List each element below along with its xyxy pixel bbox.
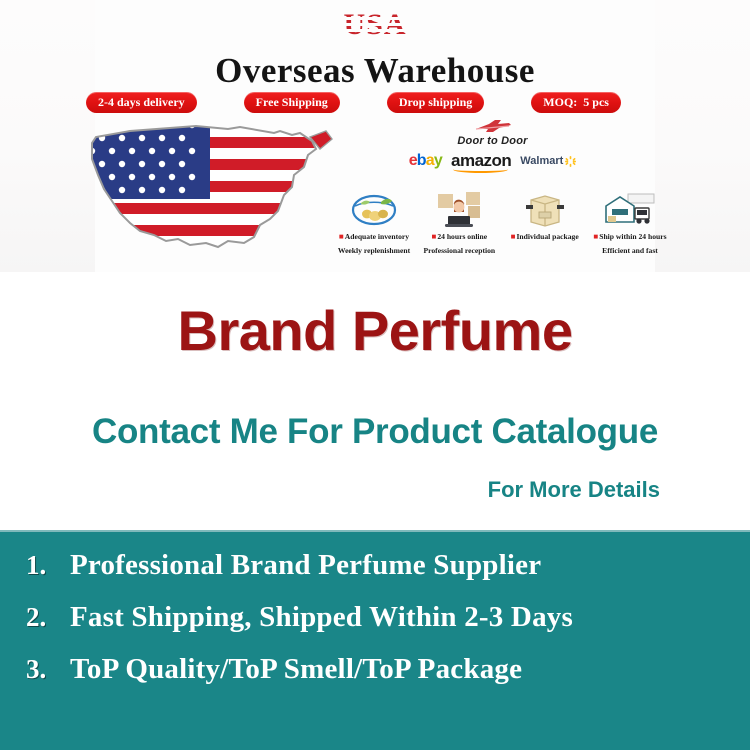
badge-drop-shipping-label: Drop shipping <box>399 95 472 109</box>
badge-free-shipping-label: Free Shipping <box>256 95 328 109</box>
walmart-logo: Walmart <box>520 155 576 167</box>
usa-flag-wordmark: USA <box>0 8 750 42</box>
cardboard-box-icon <box>503 186 587 228</box>
service-ship-within-24-hours-line1: ■Ship within 24 hours <box>588 231 672 242</box>
badge-free-shipping: Free Shipping <box>244 92 340 113</box>
badge-delivery-label: 2-4 days delivery <box>98 95 185 109</box>
list-item-text: ToP Quality/ToP Smell/ToP Package <box>70 650 522 688</box>
brand-perfume-title: Brand Perfume <box>0 300 750 362</box>
service-adequate-inventory: ■Adequate inventory Weekly replenishment <box>332 186 416 256</box>
selling-points-list: 1. Professional Brand Perfume Supplier 2… <box>26 546 730 702</box>
usa-flag-map-icon <box>78 115 338 265</box>
door-to-door-label: Door to Door <box>400 135 585 147</box>
list-item: 1. Professional Brand Perfume Supplier <box>26 546 730 584</box>
service-adequate-inventory-line1: ■Adequate inventory <box>332 231 416 242</box>
headline-section: Brand Perfume Contact Me For Product Cat… <box>0 272 750 530</box>
amazon-smile-icon <box>453 166 508 173</box>
customer-service-agent-icon <box>417 186 501 228</box>
list-item-number: 2. <box>26 598 70 636</box>
warehouse-truck-icon <box>588 186 672 228</box>
selling-points-band: 1. Professional Brand Perfume Supplier 2… <box>0 530 750 750</box>
service-adequate-inventory-line2: Weekly replenishment <box>332 245 416 256</box>
bullet-dot-icon: ■ <box>593 232 598 241</box>
overseas-warehouse-panel: USA Overseas Warehouse 2-4 days delivery… <box>0 0 750 272</box>
ebay-logo: ebay <box>409 152 442 170</box>
list-item-number: 1. <box>26 546 70 584</box>
badge-moq-label: MOQ: <box>543 95 577 109</box>
airplane-icon <box>473 118 513 134</box>
badge-delivery: 2-4 days delivery <box>86 92 197 113</box>
for-more-details-label: For More Details <box>488 477 660 503</box>
service-feature-row: ■Adequate inventory Weekly replenishment <box>332 186 672 256</box>
service-24-hours-online-line1: ■24 hours online <box>417 231 501 242</box>
badge-moq: MOQ:5 pcs <box>531 92 621 113</box>
badge-moq-quantity: 5 pcs <box>583 95 609 109</box>
walmart-spark-icon <box>565 156 576 167</box>
badge-drop-shipping: Drop shipping <box>387 92 484 113</box>
bullet-dot-icon: ■ <box>432 232 437 241</box>
feature-badge-row: 2-4 days delivery Free Shipping Drop shi… <box>86 91 621 113</box>
bullet-dot-icon: ■ <box>339 232 344 241</box>
service-24-hours-online-line2: Professional reception <box>417 245 501 256</box>
bullet-dot-icon: ■ <box>511 232 516 241</box>
list-item-text: Fast Shipping, Shipped Within 2-3 Days <box>70 598 573 636</box>
logistics-block: Door to Door ebay amazon Walmart <box>400 118 585 170</box>
promo-banner: USA Overseas Warehouse 2-4 days delivery… <box>0 0 750 750</box>
service-ship-within-24-hours-line2: Efficient and fast <box>588 245 672 256</box>
list-item-text: Professional Brand Perfume Supplier <box>70 546 541 584</box>
globe-inventory-icon <box>332 186 416 228</box>
service-ship-within-24-hours: ■Ship within 24 hours Efficient and fast <box>588 186 672 256</box>
amazon-logo: amazon <box>451 152 511 170</box>
service-individual-package-line1: ■Individual package <box>503 231 587 242</box>
list-item: 2. Fast Shipping, Shipped Within 2-3 Day… <box>26 598 730 636</box>
list-item-number: 3. <box>26 650 70 688</box>
list-item: 3. ToP Quality/ToP Smell/ToP Package <box>26 650 730 688</box>
marketplace-logo-row: ebay amazon Walmart <box>400 152 585 170</box>
service-24-hours-online: ■24 hours online Professional reception <box>417 186 501 256</box>
overseas-warehouse-title: Overseas Warehouse <box>0 52 750 90</box>
service-individual-package: ■Individual package <box>503 186 587 256</box>
contact-catalogue-title: Contact Me For Product Catalogue <box>0 412 750 452</box>
